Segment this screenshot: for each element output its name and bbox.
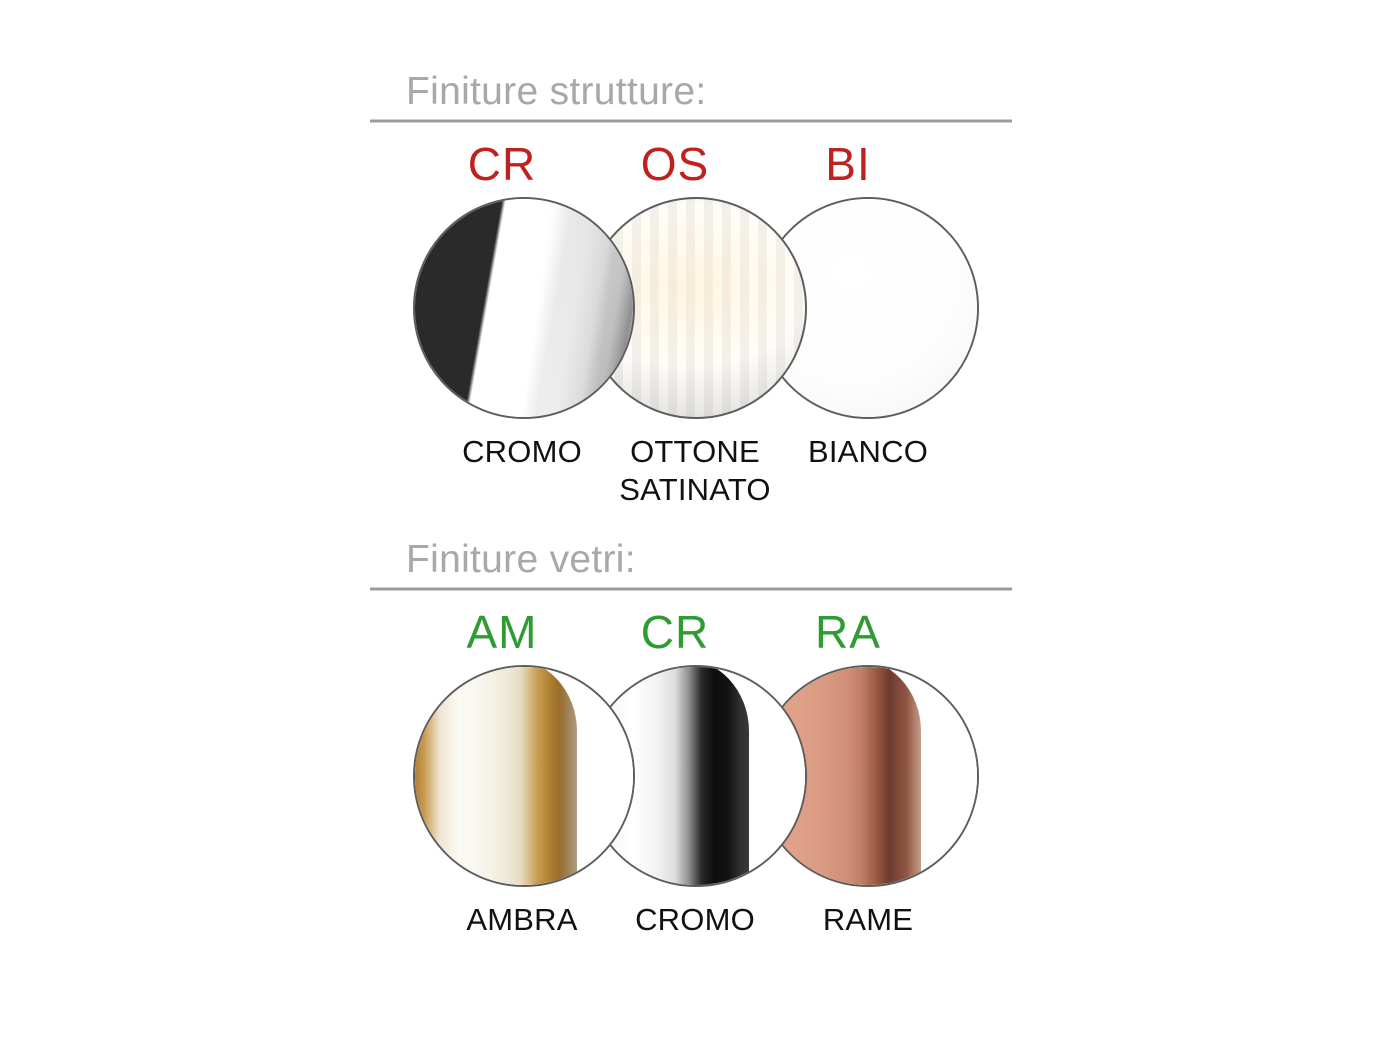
swatch-label-cromo-line1: CROMO [462, 434, 582, 469]
code-cr-vetro[interactable]: CR [585, 605, 765, 659]
finishes-chart: Finiture strutture: CR OS BI CROMO OTTON… [0, 0, 1384, 1038]
swatch-label-ambra-line1: AMBRA [466, 902, 577, 937]
section-title-vetri: Finiture vetri: [370, 540, 1012, 579]
labels-row-strutture: CROMO OTTONE SATINATO BIANCO [370, 433, 1012, 529]
chrome-swatch-fill [415, 199, 633, 417]
swatch-strip-strutture [370, 197, 1012, 423]
amber-glass-swatch-fill [415, 667, 633, 885]
labels-row-vetri: AMBRA CROMO RAME [370, 901, 1012, 997]
amber-glass-highlight [415, 667, 633, 885]
codes-row-strutture: CR OS BI [370, 137, 1012, 193]
swatch-label-cromo-vetro-line1: CROMO [635, 902, 755, 937]
section-divider-vetri [370, 587, 1012, 591]
swatch-label-rame: RAME [758, 901, 978, 939]
code-os-struttura[interactable]: OS [585, 137, 765, 191]
section-finiture-vetri: Finiture vetri: AM CR RA [370, 540, 1012, 997]
section-title-strutture: Finiture strutture: [370, 72, 1012, 111]
swatch-label-ottone-line2: SATINATO [585, 471, 805, 509]
swatch-label-ottone-line1: OTTONE [630, 434, 760, 469]
chrome-swatch[interactable] [413, 197, 635, 419]
codes-row-vetri: AM CR RA [370, 605, 1012, 661]
code-ra-vetro[interactable]: RA [758, 605, 938, 659]
amber-glass-swatch[interactable] [413, 665, 635, 887]
code-bi-struttura[interactable]: BI [758, 137, 938, 191]
swatch-label-bianco-line1: BIANCO [808, 434, 928, 469]
section-divider-strutture [370, 119, 1012, 123]
swatch-strip-vetri [370, 665, 1012, 891]
code-cr-struttura[interactable]: CR [412, 137, 592, 191]
section-finiture-strutture: Finiture strutture: CR OS BI CROMO OTTON… [370, 72, 1012, 529]
swatch-label-rame-line1: RAME [823, 902, 913, 937]
swatch-label-bianco: BIANCO [758, 433, 978, 471]
code-am-vetro[interactable]: AM [412, 605, 592, 659]
